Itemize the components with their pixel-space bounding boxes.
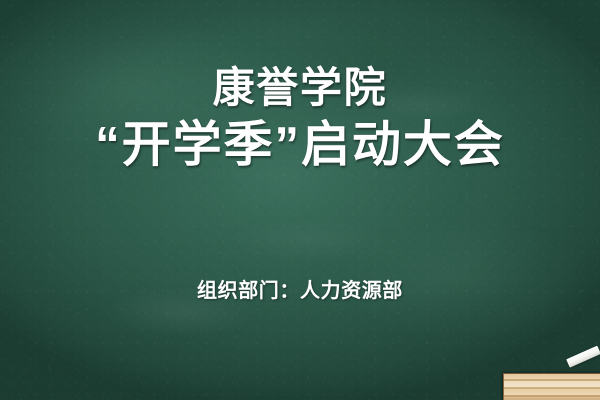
slide-title-line-1: 康誉学院 <box>0 62 600 114</box>
slide-title-block: 康誉学院 “开学季”启动大会 <box>0 62 600 176</box>
chalkboard-texture-overlay <box>0 0 600 400</box>
chalk-stick-icon <box>566 346 600 368</box>
wooden-chalk-ledge <box>503 373 600 400</box>
slide-title-line-2: “开学季”启动大会 <box>0 114 600 176</box>
slide-subtitle: 组织部门：人力资源部 <box>0 274 600 303</box>
presentation-slide: 康誉学院 “开学季”启动大会 组织部门：人力资源部 <box>0 0 600 400</box>
chalkboard-smudge-overlay <box>0 0 600 400</box>
ledge-top-edge <box>504 373 600 374</box>
